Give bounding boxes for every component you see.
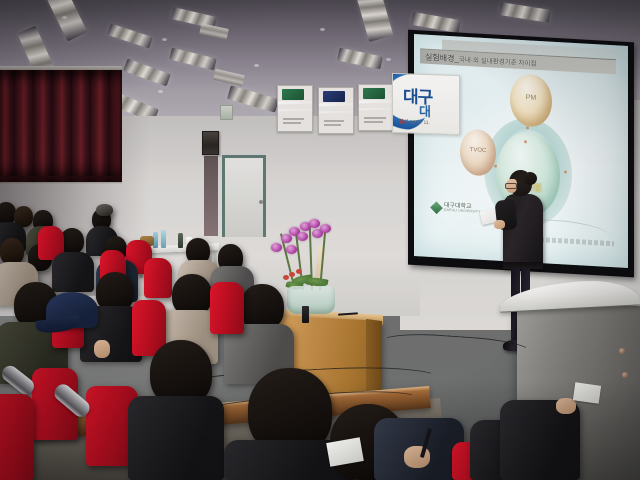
door-handle-icon[interactable] [259,200,263,204]
accent-flower [296,269,302,274]
orchid-bloom [286,245,297,254]
accent-flower [289,272,295,277]
orchid-bloom [320,224,331,233]
ceiling-vent [199,23,229,40]
auditorium-seat[interactable] [144,258,172,298]
audience-hand [94,340,110,358]
wall-poster [318,87,354,134]
mobile-phone[interactable] [302,306,309,323]
room-number-plate [220,105,233,120]
ceiling-light [169,48,217,71]
glasses-icon [505,183,517,189]
audience-hand [556,398,576,414]
banner-date-prefix: 일시 [399,119,408,125]
drink-bottle [178,233,183,248]
ceiling-fixture-dot [254,64,259,67]
ceiling-light [499,2,550,23]
ceiling-light [227,85,279,112]
presenter-hand [494,220,505,229]
diagram-marker [564,170,567,173]
audience-head [96,204,113,216]
event-banner: 대구 대 일시 2009. 11. [392,73,460,135]
orchid-bloom [281,234,292,243]
lectern-knob-icon[interactable] [619,348,625,354]
window-curtain [0,70,122,182]
ceiling-light [39,0,88,41]
slide-subtitle: 국내·외 실내환경기준 차이점 [459,57,537,68]
handout-paper[interactable] [573,382,601,403]
slide-title: 실험배경_ [425,53,459,64]
flower-pot [287,286,335,314]
banner-date: 일시 2009. 11. [399,118,430,126]
orchid-bloom [271,243,282,252]
water-bottle [161,230,166,248]
ceiling-fixture-dot [62,16,67,19]
presenter-hair [523,172,537,185]
orchid-bloom [297,232,308,241]
audience-body [52,252,94,292]
ceiling-fixture-dot [386,58,391,61]
auditorium-seat[interactable] [0,394,34,480]
room-door[interactable] [222,155,266,237]
diagram-marker [526,126,529,129]
ceiling-fixture-dot [158,90,163,93]
lectern-knob-icon[interactable] [622,372,628,378]
door-side-panel [204,156,218,236]
auditorium-seat[interactable] [210,282,244,334]
ceiling-fixture-dot [162,38,167,41]
ceiling-fixture-dot [320,28,325,31]
logo-sub: DAEGU UNIVERSITY [444,209,481,215]
diagram-marker [524,140,527,143]
ceiling-light [123,59,171,87]
orchid-bloom [309,219,320,228]
logo-diamond-icon [430,201,443,214]
audience-head [0,238,24,265]
ceiling-vent [213,69,245,86]
ceiling-light [337,48,383,70]
wall-poster [277,85,313,132]
banner-date-value: 2009. 11. [410,119,430,126]
wall-poster [358,84,394,131]
photo-scene: 실험배경_국내·외 실내환경기준 차이점 차이점 PM TVOC 대구대학교 D… [0,0,640,480]
diagram-marker [494,164,497,167]
ceiling-light [357,0,394,42]
ceiling-light [107,23,153,48]
wall-speaker-icon [202,131,219,155]
audience-body [128,396,224,480]
banner-line2: 대 [419,101,431,120]
curtain-shadow [0,176,122,184]
accent-flower [283,275,289,280]
